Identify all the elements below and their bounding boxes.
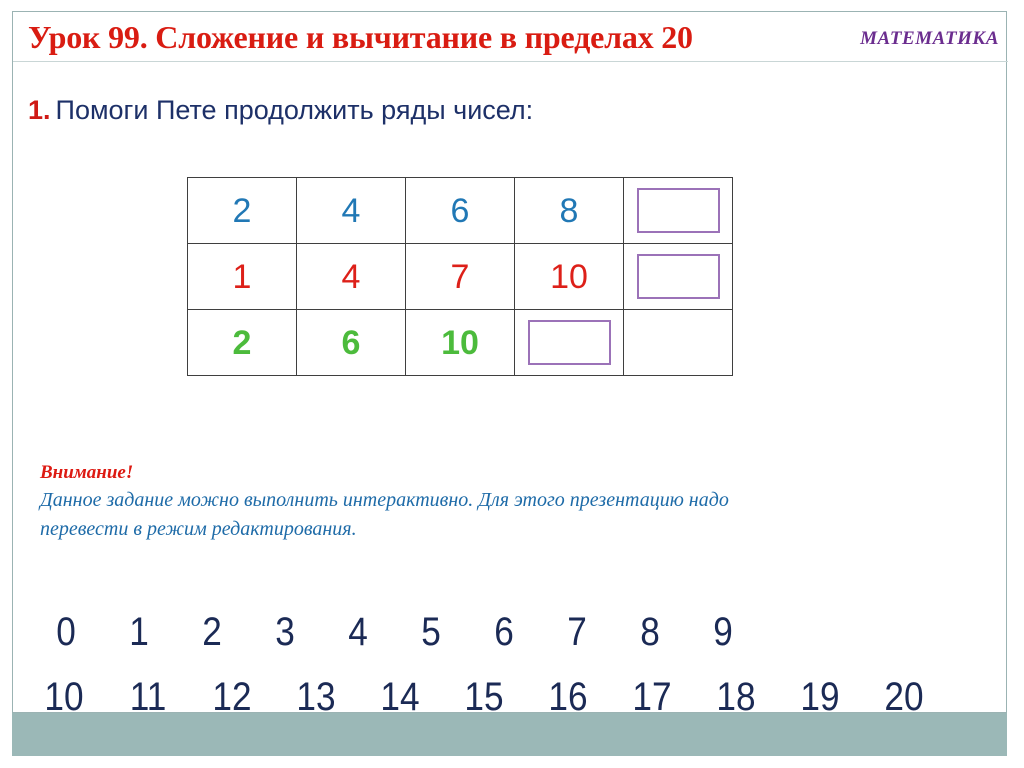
cell-value: 6 — [342, 326, 361, 360]
task-text: Помоги Пете продолжить ряды чисел: — [56, 95, 534, 125]
cell-value: 2 — [233, 326, 252, 360]
table-cell-answer[interactable] — [515, 310, 624, 376]
number-line-item: 14 — [367, 677, 434, 717]
number-line-item: 20 — [871, 677, 938, 717]
number-line-item: 3 — [254, 612, 316, 652]
answer-input-box[interactable] — [637, 254, 720, 299]
task-prompt: 1.Помоги Пете продолжить ряды чисел: — [28, 95, 533, 126]
table-cell-answer[interactable] — [624, 244, 733, 310]
number-line-item: 9 — [692, 612, 754, 652]
number-line-item: 17 — [619, 677, 686, 717]
notice-line-2: перевести в режим редактирования. — [40, 515, 860, 544]
table-cell: 4 — [297, 178, 406, 244]
table-cell: 2 — [188, 310, 297, 376]
number-line-item: 0 — [35, 612, 97, 652]
notice-title: Внимание! — [40, 462, 860, 484]
slide-canvas: Урок 99. Сложение и вычитание в пределах… — [12, 11, 1007, 713]
number-line-item: 1 — [108, 612, 170, 652]
number-line-item: 6 — [473, 612, 535, 652]
task-number: 1. — [28, 95, 51, 125]
number-line-item: 2 — [181, 612, 243, 652]
answer-input-box[interactable] — [637, 188, 720, 233]
cell-value: 4 — [342, 194, 361, 228]
cell-value: 7 — [451, 260, 470, 294]
cell-value: 10 — [550, 260, 588, 294]
answer-input-box[interactable] — [528, 320, 611, 365]
cell-value: 6 — [451, 194, 470, 228]
notice-block: Внимание! Данное задание можно выполнить… — [40, 462, 860, 544]
number-line-item: 13 — [283, 677, 350, 717]
table-cell: 2 — [188, 178, 297, 244]
table-cell-empty — [624, 310, 733, 376]
cell-value: 1 — [233, 260, 252, 294]
number-line-item: 15 — [451, 677, 518, 717]
table-cell: 6 — [406, 178, 515, 244]
number-line-row-1: 0 1 2 3 4 5 6 7 8 9 — [13, 612, 1008, 652]
number-line-item: 4 — [327, 612, 389, 652]
slide-header: Урок 99. Сложение и вычитание в пределах… — [13, 12, 1008, 60]
table-cell: 6 — [297, 310, 406, 376]
number-line-item: 10 — [31, 677, 98, 717]
table-cell: 8 — [515, 178, 624, 244]
header-divider — [13, 61, 1008, 62]
cell-value: 10 — [441, 326, 479, 360]
cell-value: 8 — [560, 194, 579, 228]
number-line-item: 19 — [787, 677, 854, 717]
table-row: 2 6 10 — [188, 310, 733, 376]
table-cell: 1 — [188, 244, 297, 310]
table-row: 1 4 7 10 — [188, 244, 733, 310]
table-row: 2 4 6 8 — [188, 178, 733, 244]
cell-value: 2 — [233, 194, 252, 228]
number-line-item: 5 — [400, 612, 462, 652]
page-title: Урок 99. Сложение и вычитание в пределах… — [28, 19, 693, 56]
number-line-item: 18 — [703, 677, 770, 717]
table-cell: 4 — [297, 244, 406, 310]
number-line-item: 7 — [546, 612, 608, 652]
table-cell: 10 — [515, 244, 624, 310]
notice-line-1: Данное задание можно выполнить интеракти… — [40, 486, 860, 515]
table-cell: 10 — [406, 310, 515, 376]
number-sequence-table: 2 4 6 8 1 4 7 10 2 6 10 — [187, 177, 733, 376]
number-line-row-2: 10 11 12 13 14 15 16 17 18 19 20 — [13, 677, 1008, 717]
subject-label: МАТЕМАТИКА — [860, 28, 999, 50]
number-line-item: 16 — [535, 677, 602, 717]
number-line-item: 8 — [619, 612, 681, 652]
table-cell-answer[interactable] — [624, 178, 733, 244]
footer-bar — [12, 713, 1007, 756]
table-cell: 7 — [406, 244, 515, 310]
number-line-item: 12 — [199, 677, 266, 717]
cell-value: 4 — [342, 260, 361, 294]
number-line-item: 11 — [115, 677, 182, 717]
